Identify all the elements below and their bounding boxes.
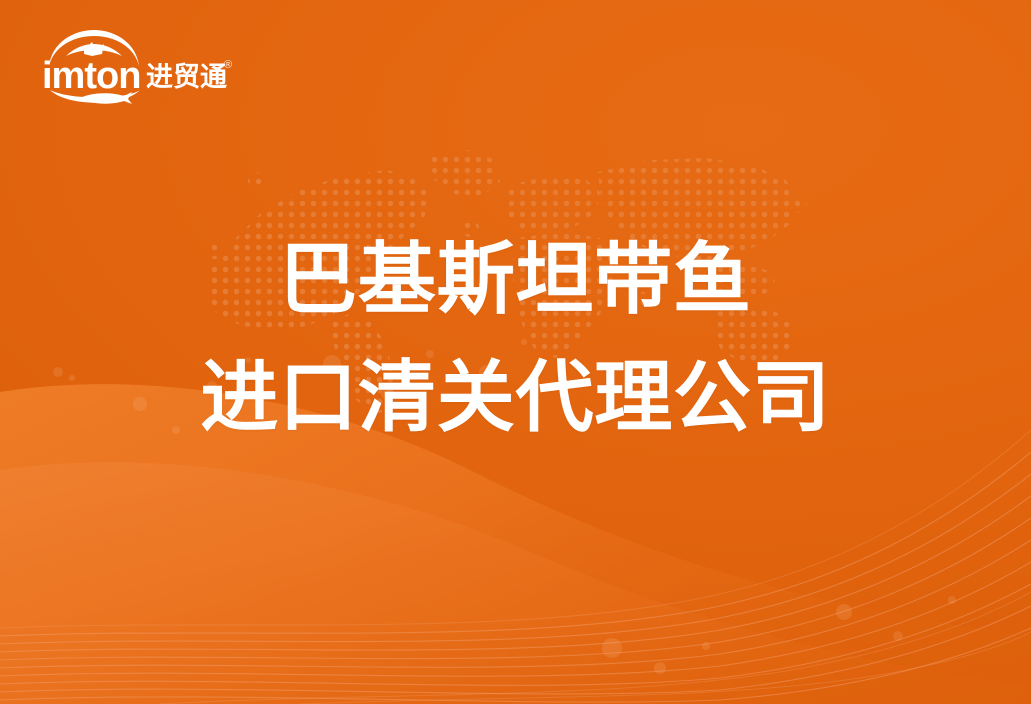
logo-wordmark: imton <box>42 55 140 97</box>
logo-chinese-name: 进贸通 <box>146 62 227 93</box>
bird-icon <box>66 42 122 56</box>
headline-line-2: 进口清关代理公司 <box>0 358 1031 436</box>
company-logo[interactable]: imton 进贸通 ® <box>40 26 240 106</box>
promotional-banner: imton 进贸通 ® 巴基斯坦带鱼 进口清关代理公司 <box>0 0 1031 704</box>
headline-block: 巴基斯坦带鱼 进口清关代理公司 <box>0 240 1031 436</box>
headline-line-1: 巴基斯坦带鱼 <box>0 240 1031 318</box>
registered-trademark-icon: ® <box>224 59 232 71</box>
